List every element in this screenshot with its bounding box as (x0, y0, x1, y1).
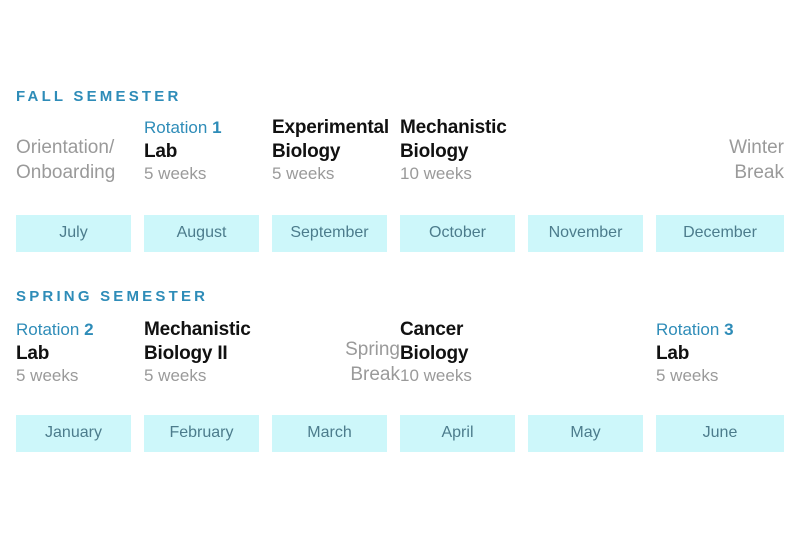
fall-block-winter-break-line1: Winter (729, 137, 784, 158)
fall-block-mechanistic-biology-line2: Biology (400, 141, 468, 162)
fall-block-rotation-1-rotation: Rotation 1 (144, 117, 262, 139)
month-chip[interactable]: July (16, 215, 144, 252)
fall-block-mechanistic-biology-duration: 10 weeks (400, 163, 646, 185)
month-chip-label: October (400, 215, 515, 252)
month-chip-label: July (16, 215, 131, 252)
spring-block-rotation-2-title: Lab (16, 342, 134, 366)
fall-block-winter-break-title: Winter Break (662, 136, 784, 185)
month-chip-label: May (528, 415, 643, 452)
academic-year-timeline: Fall Semester Orientation/ Onboarding Ro… (0, 0, 800, 533)
fall-block-rotation-1-rotation-number: 1 (212, 118, 221, 137)
fall-block-orientation: Orientation/ Onboarding (16, 136, 144, 185)
spring-block-rotation-2-rotation-label: Rotation (16, 320, 79, 339)
fall-block-experimental-biology-title: Experimental Biology (272, 116, 390, 163)
month-chip-label: June (656, 415, 784, 452)
spring-block-mechanistic-biology-ii-line2: Biology II (144, 343, 228, 364)
fall-block-orientation-line2: Onboarding (16, 162, 115, 183)
spring-block-cancer-biology: Cancer Biology 10 weeks (400, 318, 656, 388)
month-chip[interactable]: April (400, 415, 528, 452)
fall-blocks-row: Orientation/ Onboarding Rotation 1 Lab 5… (16, 116, 784, 186)
fall-block-winter-break: Winter Break (656, 136, 784, 185)
fall-block-rotation-1-rotation-label: Rotation (144, 118, 207, 137)
spring-block-cancer-biology-duration: 10 weeks (400, 365, 646, 387)
month-chip[interactable]: May (528, 415, 656, 452)
month-chip-label: December (656, 215, 784, 252)
spring-block-spring-break-line2: Break (350, 364, 400, 385)
spring-block-spring-break: Spring Break (272, 338, 400, 387)
month-chip[interactable]: June (656, 415, 784, 452)
spring-block-mechanistic-biology-ii: Mechanistic Biology II 5 weeks (144, 318, 272, 388)
fall-block-orientation-title: Orientation/ Onboarding (16, 136, 134, 185)
spring-semester-heading: Spring Semester (16, 288, 208, 305)
spring-block-rotation-3-duration: 5 weeks (656, 365, 774, 387)
fall-months-row: July August September October November D… (16, 215, 784, 252)
spring-months-row: January February March April May June (16, 415, 784, 452)
fall-block-mechanistic-biology: Mechanistic Biology 10 weeks (400, 116, 656, 186)
spring-block-rotation-3-title: Lab (656, 342, 774, 366)
spring-block-cancer-biology-line1: Cancer (400, 319, 463, 340)
month-chip[interactable]: December (656, 215, 784, 252)
month-chip[interactable]: February (144, 415, 272, 452)
spring-block-spring-break-line1: Spring (345, 339, 400, 360)
spring-block-rotation-2-rotation: Rotation 2 (16, 319, 134, 341)
month-chip[interactable]: January (16, 415, 144, 452)
fall-block-rotation-1: Rotation 1 Lab 5 weeks (144, 117, 272, 185)
month-chip-label: January (16, 415, 131, 452)
fall-block-experimental-biology-line2: Biology (272, 141, 340, 162)
fall-block-mechanistic-biology-title: Mechanistic Biology (400, 116, 646, 163)
fall-semester-heading: Fall Semester (16, 88, 182, 105)
spring-block-rotation-3-rotation: Rotation 3 (656, 319, 774, 341)
month-chip[interactable]: November (528, 215, 656, 252)
spring-block-cancer-biology-line2: Biology (400, 343, 468, 364)
month-chip-label: September (272, 215, 387, 252)
spring-block-mechanistic-biology-ii-line1: Mechanistic (144, 319, 251, 340)
spring-block-mechanistic-biology-ii-duration: 5 weeks (144, 365, 262, 387)
spring-block-rotation-2-rotation-number: 2 (84, 320, 93, 339)
fall-block-mechanistic-biology-line1: Mechanistic (400, 117, 507, 138)
month-chip-label: August (144, 215, 259, 252)
spring-blocks-row: Rotation 2 Lab 5 weeks Mechanistic Biolo… (16, 318, 784, 388)
month-chip[interactable]: August (144, 215, 272, 252)
fall-block-rotation-1-title: Lab (144, 140, 262, 164)
month-chip-label: February (144, 415, 259, 452)
fall-block-rotation-1-duration: 5 weeks (144, 163, 262, 185)
month-chip[interactable]: October (400, 215, 528, 252)
month-chip-label: November (528, 215, 643, 252)
fall-block-orientation-line1: Orientation/ (16, 137, 114, 158)
fall-block-experimental-biology-duration: 5 weeks (272, 163, 390, 185)
month-chip[interactable]: March (272, 415, 400, 452)
spring-block-cancer-biology-title: Cancer Biology (400, 318, 646, 365)
month-chip[interactable]: September (272, 215, 400, 252)
spring-block-rotation-3-rotation-label: Rotation (656, 320, 719, 339)
spring-block-rotation-2: Rotation 2 Lab 5 weeks (16, 319, 144, 387)
fall-block-winter-break-line2: Break (734, 162, 784, 183)
spring-block-rotation-3-rotation-number: 3 (724, 320, 733, 339)
spring-block-spring-break-title: Spring Break (278, 338, 400, 387)
spring-block-rotation-2-duration: 5 weeks (16, 365, 134, 387)
fall-block-experimental-biology: Experimental Biology 5 weeks (272, 116, 400, 186)
spring-block-mechanistic-biology-ii-title: Mechanistic Biology II (144, 318, 262, 365)
fall-block-experimental-biology-line1: Experimental (272, 117, 389, 138)
month-chip-label: March (272, 415, 387, 452)
spring-block-rotation-3: Rotation 3 Lab 5 weeks (656, 319, 784, 387)
month-chip-label: April (400, 415, 515, 452)
